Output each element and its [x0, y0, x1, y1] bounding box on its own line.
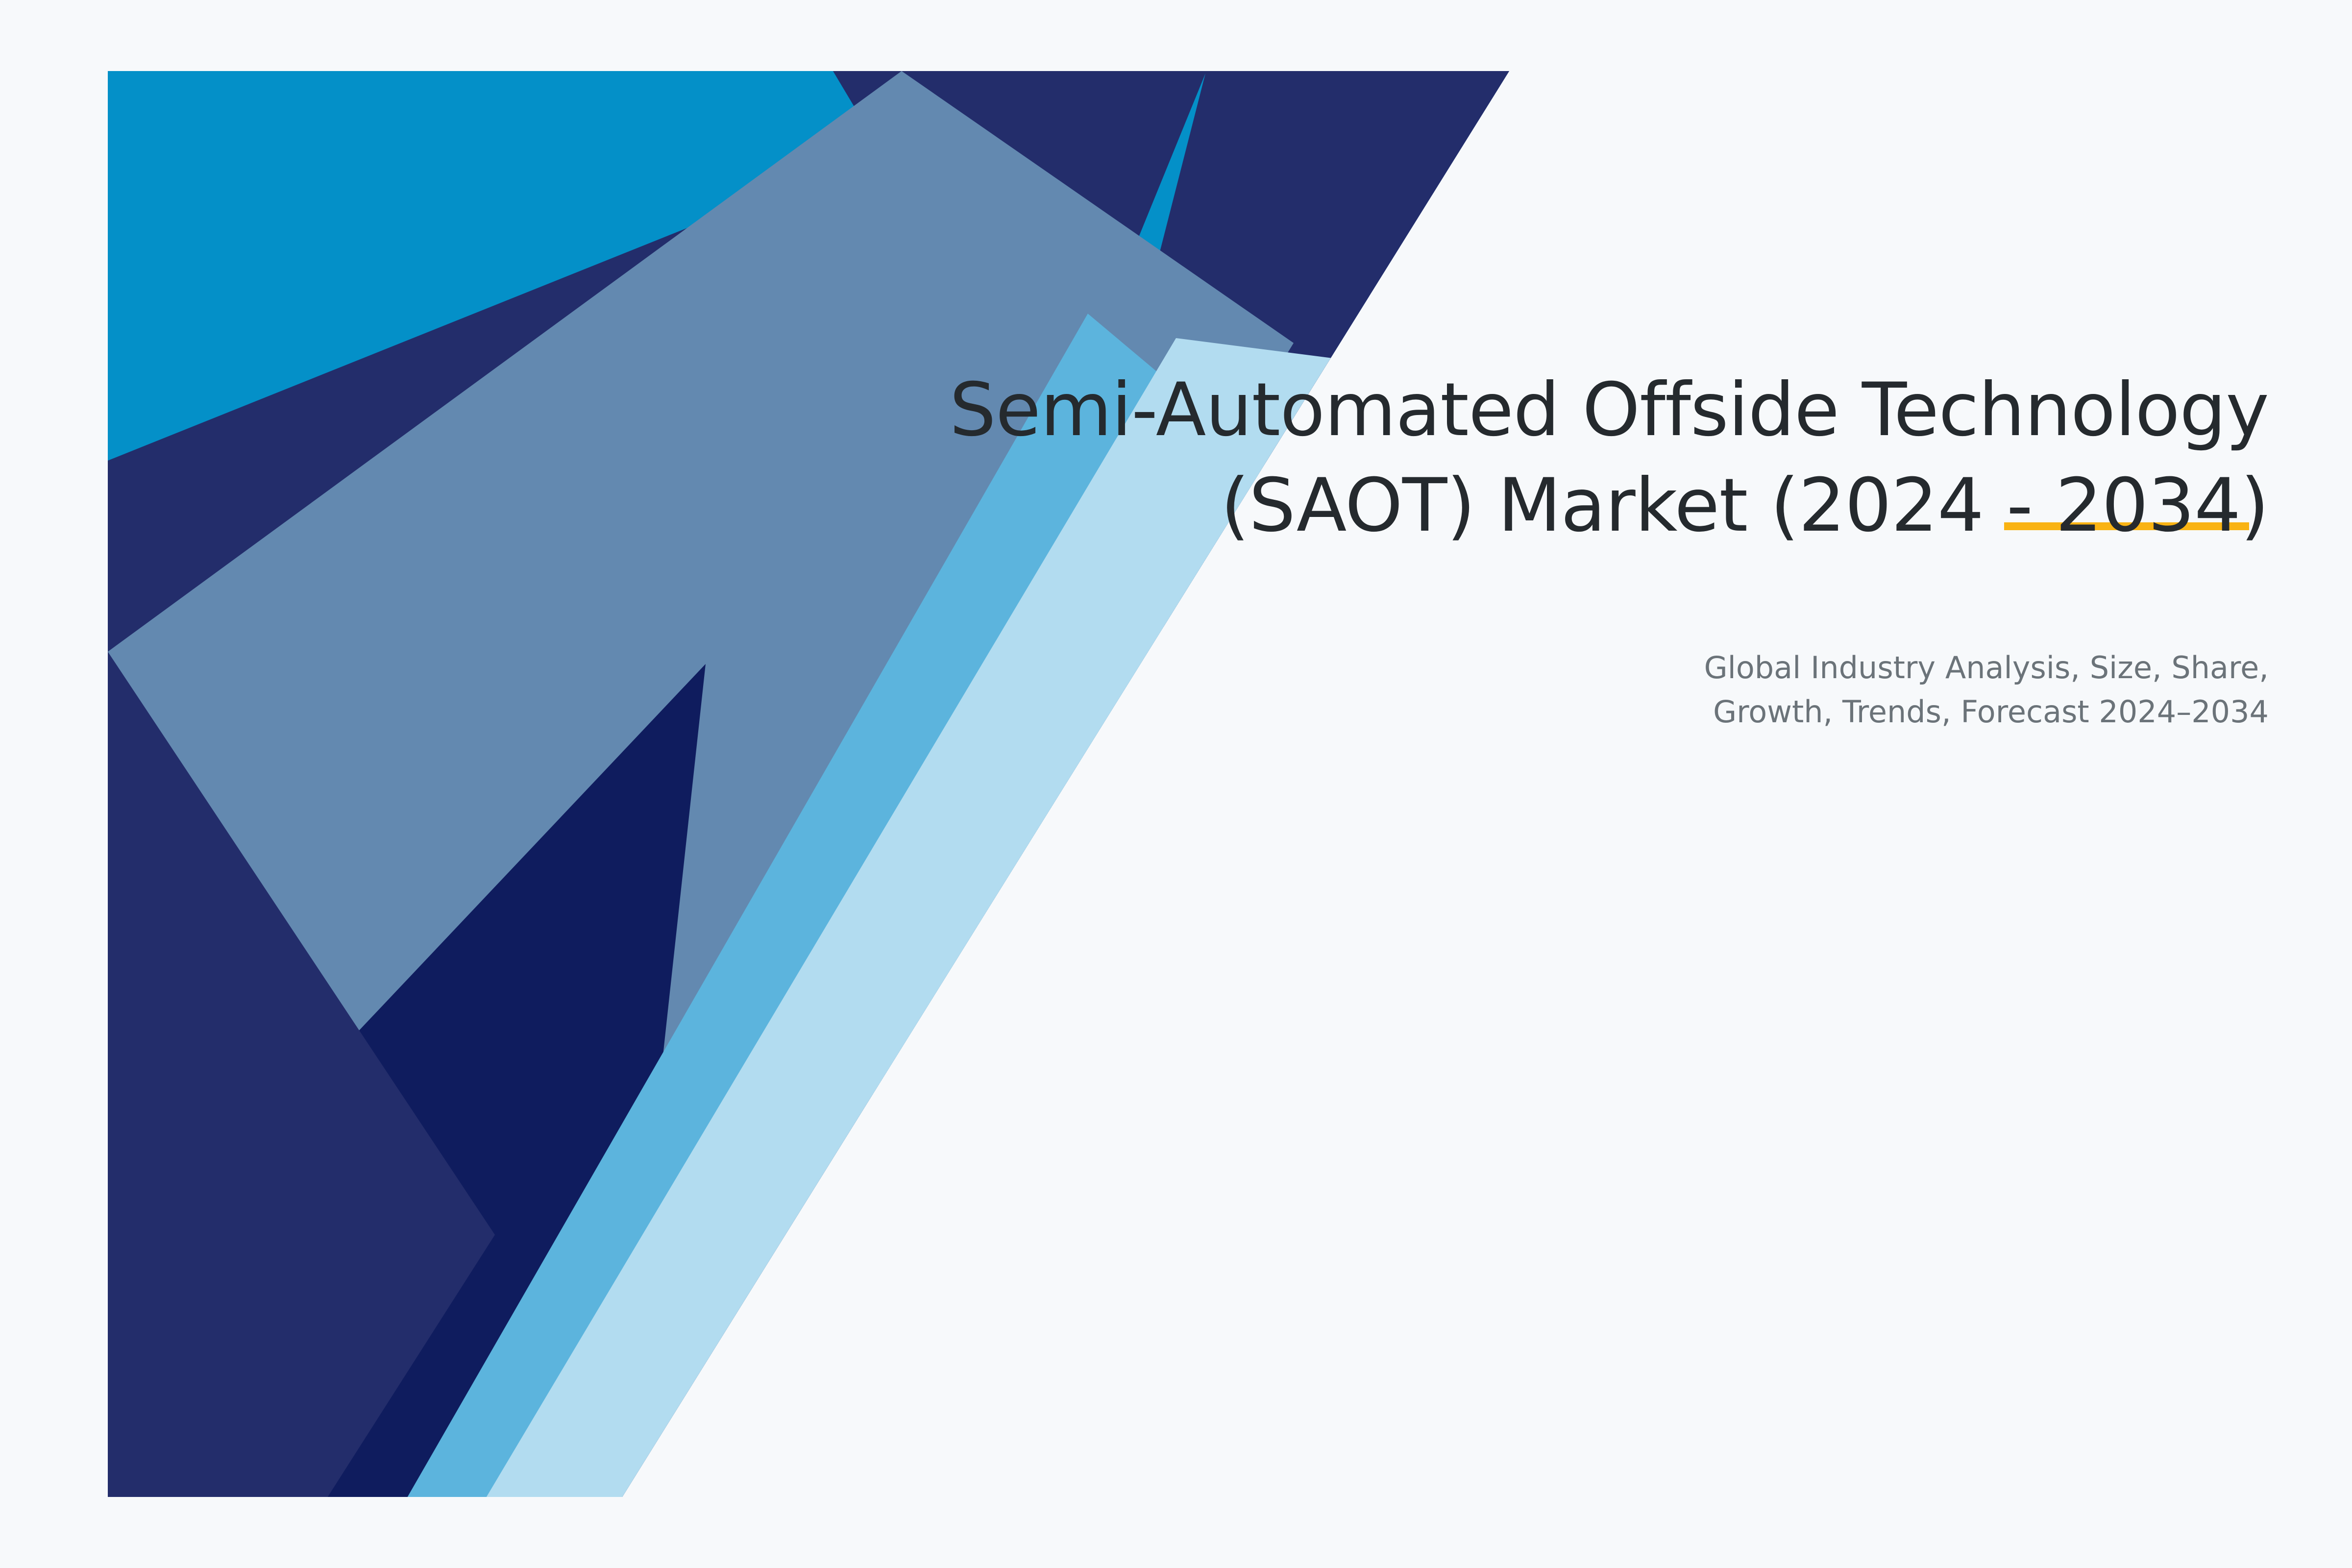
- title-block: Semi-Automated Offside Technology (SAOT)…: [833, 363, 2269, 554]
- abstract-geometric-cover-graphic: [0, 0, 2352, 1568]
- page-title: Semi-Automated Offside Technology (SAOT)…: [833, 363, 2269, 554]
- page-subtitle: Global Industry Analysis, Size, Share, G…: [1274, 646, 2269, 734]
- cover-page: Semi-Automated Offside Technology (SAOT)…: [0, 0, 2352, 1568]
